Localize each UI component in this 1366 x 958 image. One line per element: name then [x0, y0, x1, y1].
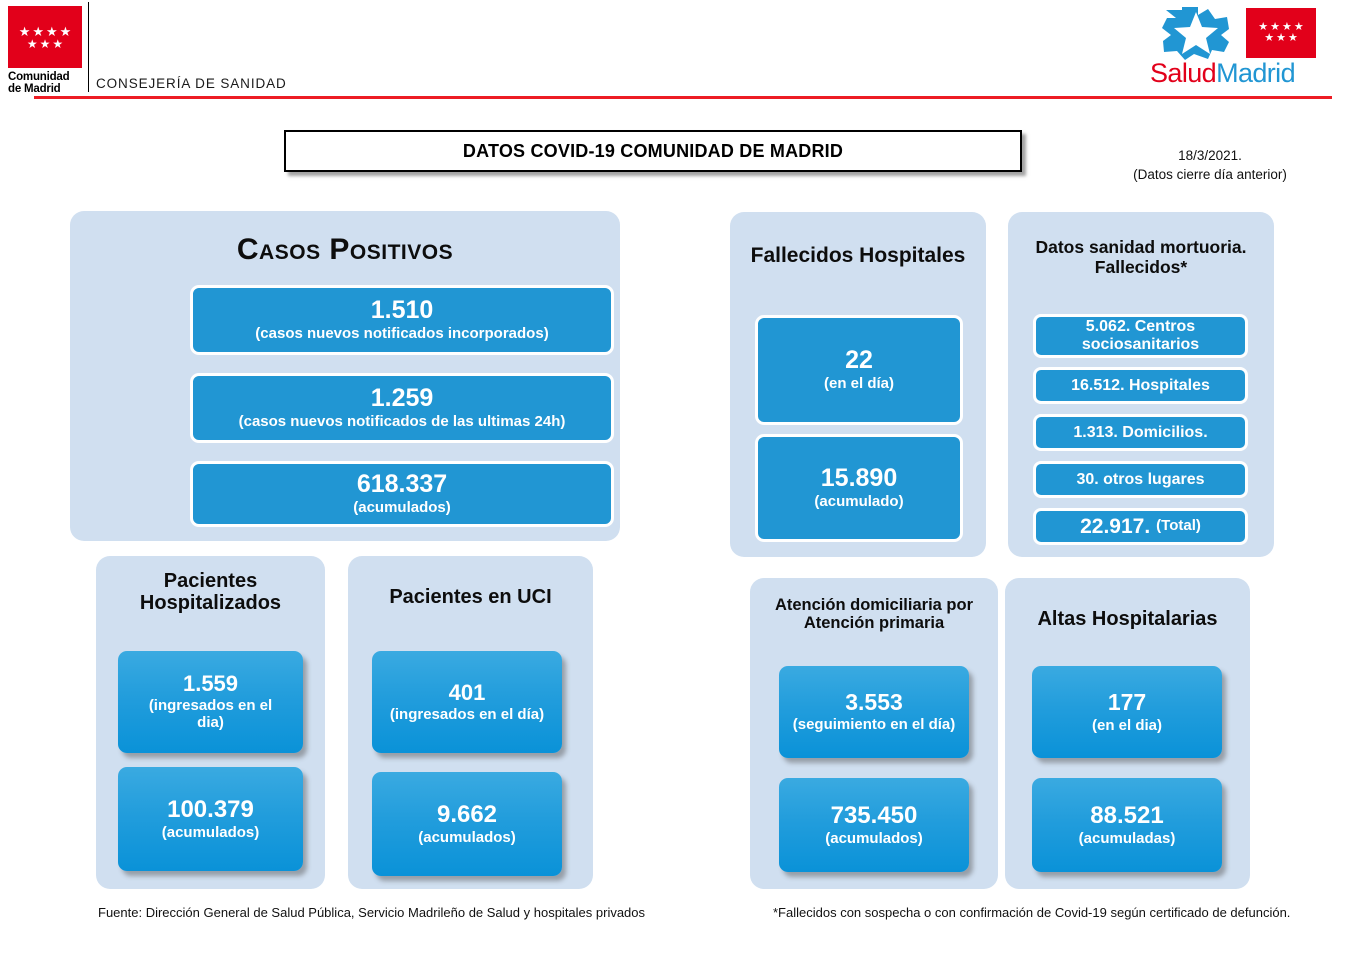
card-casos-nuevos-24h: 1.259 (casos nuevos notificados de las u… — [190, 373, 614, 443]
salud-madrid-marks: ★★★★ ★★★ — [1146, 4, 1326, 60]
card-value: 1.510 — [371, 297, 434, 323]
card-hospitalizados-acumulados: 100.379 (acumulados) — [118, 767, 303, 871]
salud-madrid-wordmark: SaludMadrid — [1150, 58, 1295, 89]
header-red-rule — [34, 96, 1332, 99]
card-value: 3.553 — [845, 690, 903, 714]
card-value: 735.450 — [831, 803, 918, 828]
panel-pacientes-uci: Pacientes en UCI 401 (ingresados en el d… — [348, 556, 593, 889]
footnote-asterisk: *Fallecidos con sospecha o con confirmac… — [773, 905, 1290, 920]
stars-row-top: ★★★★ — [19, 25, 72, 38]
page-title-box: DATOS COVID-19 COMUNIDAD DE MADRID — [284, 130, 1022, 172]
report-date-line2: (Datos cierre día anterior) — [1090, 165, 1330, 184]
card-value: 22 — [845, 347, 873, 373]
header-divider — [88, 2, 89, 92]
card-fallecidos-dia: 22 (en el día) — [755, 315, 963, 425]
mortuoria-total-label: (Total) — [1156, 518, 1201, 535]
card-altas-acumuladas: 88.521 (acumuladas) — [1032, 778, 1222, 872]
panel-title-casos-positivos: Casos Positivos — [70, 233, 620, 267]
panel-altas-hospitalarias: Altas Hospitalarias 177 (en el dia) 88.5… — [1005, 578, 1250, 889]
page-title: DATOS COVID-19 COMUNIDAD DE MADRID — [463, 141, 843, 162]
card-label: (casos nuevos notificados incorporados) — [255, 326, 548, 343]
card-value: 100.379 — [167, 797, 254, 822]
panel-title-line2: Hospitalizados — [96, 592, 325, 614]
card-label: (seguimiento en el día) — [793, 717, 956, 734]
card-atencion-dia: 3.553 (seguimiento en el día) — [779, 666, 969, 758]
salud-madrid-logo: ★★★★ ★★★ SaludMadrid — [1146, 4, 1326, 94]
card-value: 1.559 — [183, 672, 238, 695]
card-label: (acumulado) — [814, 494, 903, 511]
mortuoria-row-otros-lugares: 30. otros lugares — [1033, 461, 1248, 498]
panel-title-line2: Atención primaria — [750, 614, 998, 632]
panel-title-pacientes-uci: Pacientes en UCI — [348, 586, 593, 608]
brand-madrid: Madrid — [1216, 58, 1295, 88]
card-value: 88.521 — [1090, 803, 1163, 828]
card-value: 1.259 — [371, 385, 434, 411]
wordmark-line2: de Madrid — [8, 83, 82, 95]
card-value: 177 — [1108, 690, 1146, 714]
panel-title-atencion-domiciliaria: Atención domiciliaria por Atención prima… — [750, 596, 998, 633]
department-label: CONSEJERÍA DE SANIDAD — [96, 76, 287, 91]
panel-title-altas-hospitalarias: Altas Hospitalarias — [1005, 608, 1250, 630]
card-label: (ingresados en el dia) — [136, 698, 286, 732]
card-value: 9.662 — [437, 802, 497, 827]
panel-atencion-domiciliaria: Atención domiciliaria por Atención prima… — [750, 578, 998, 889]
report-date-line1: 18/3/2021. — [1090, 146, 1330, 165]
salud-madrid-flag-icon: ★★★★ ★★★ — [1246, 8, 1316, 58]
madrid-flag-icon: ★★★★ ★★★ — [8, 6, 82, 68]
card-uci-acumulados: 9.662 (acumulados) — [372, 772, 562, 876]
card-value: 618.337 — [357, 471, 447, 497]
panel-title-line2: Fallecidos* — [1008, 258, 1274, 278]
stars-row-bottom: ★★★ — [27, 38, 63, 50]
panel-title-line1: Datos sanidad mortuoria. — [1008, 238, 1274, 258]
comunidad-de-madrid-wordmark: Comunidad de Madrid — [8, 71, 82, 95]
wordmark-line1: Comunidad — [8, 71, 82, 83]
card-uci-dia: 401 (ingresados en el día) — [372, 651, 562, 753]
panel-casos-positivos: Casos Positivos 1.510 (casos nuevos noti… — [70, 211, 620, 541]
card-casos-nuevos-incorporados: 1.510 (casos nuevos notificados incorpor… — [190, 285, 614, 355]
card-label: (acumulados) — [353, 500, 451, 517]
comunidad-de-madrid-logo: ★★★★ ★★★ Comunidad de Madrid — [8, 6, 82, 91]
card-label: (ingresados en el día) — [390, 707, 544, 724]
card-casos-acumulados: 618.337 (acumulados) — [190, 461, 614, 527]
card-label: (acumulados) — [162, 825, 260, 842]
card-fallecidos-acumulado: 15.890 (acumulado) — [755, 434, 963, 542]
report-date: 18/3/2021. (Datos cierre día anterior) — [1090, 146, 1330, 184]
card-label: (casos nuevos notificados de las ultimas… — [239, 414, 566, 431]
sm-stars-row-bottom: ★★★ — [1264, 33, 1298, 44]
footnote-source: Fuente: Dirección General de Salud Públi… — [98, 905, 645, 920]
salud-madrid-star-icon — [1152, 6, 1236, 60]
card-label: (acumulados) — [418, 830, 516, 847]
panel-fallecidos-hospitales: Fallecidos Hospitales 22 (en el día) 15.… — [730, 212, 986, 557]
card-label: (acumulados) — [825, 831, 923, 848]
panel-title-fallecidos-hospitales: Fallecidos Hospitales — [730, 244, 986, 268]
panel-title-line1: Atención domiciliaria por — [750, 596, 998, 614]
card-altas-dia: 177 (en el dia) — [1032, 666, 1222, 758]
panel-title-sanidad-mortuoria: Datos sanidad mortuoria. Fallecidos* — [1008, 238, 1274, 277]
mortuoria-row-centros-sociosanitarios: 5.062. Centros sociosanitarios — [1033, 314, 1248, 358]
panel-pacientes-hospitalizados: Pacientes Hospitalizados 1.559 (ingresad… — [96, 556, 325, 889]
mortuoria-row-hospitales: 16.512. Hospitales — [1033, 367, 1248, 404]
mortuoria-row-domicilios: 1.313. Domicilios. — [1033, 414, 1248, 451]
panel-title-pacientes-hospitalizados: Pacientes Hospitalizados — [96, 570, 325, 615]
page-header: ★★★★ ★★★ Comunidad de Madrid CONSEJERÍA … — [0, 0, 1366, 100]
card-label: (en el día) — [824, 376, 894, 393]
covid-dashboard-page: ★★★★ ★★★ Comunidad de Madrid CONSEJERÍA … — [0, 0, 1366, 958]
card-value: 401 — [449, 681, 486, 704]
card-atencion-acumulados: 735.450 (acumulados) — [779, 778, 969, 872]
mortuoria-row-total: 22.917. (Total) — [1033, 508, 1248, 545]
card-value: 15.890 — [821, 465, 897, 491]
panel-title-line1: Pacientes — [96, 570, 325, 592]
card-label: (acumuladas) — [1079, 831, 1176, 848]
brand-salud: Salud — [1150, 58, 1216, 88]
mortuoria-total-value: 22.917. — [1080, 515, 1150, 538]
panel-sanidad-mortuoria: Datos sanidad mortuoria. Fallecidos* 5.0… — [1008, 212, 1274, 557]
card-label: (en el dia) — [1092, 718, 1162, 735]
card-hospitalizados-dia: 1.559 (ingresados en el dia) — [118, 651, 303, 753]
